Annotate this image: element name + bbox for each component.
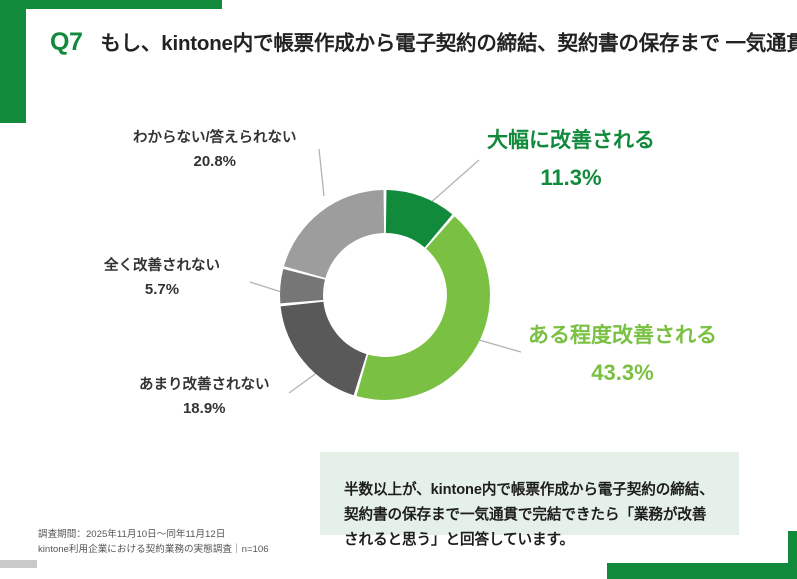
- slice-label-no-improvement-name: 全く改善されない: [104, 256, 220, 277]
- slide-root: Q7 もし、kintone内で帳票作成から電子契約の締結、契約書の保存まで 一気…: [0, 0, 797, 579]
- slice-label-little-improvement-value: 18.9%: [139, 398, 270, 420]
- accent-bar-right-edge: [788, 531, 797, 579]
- accent-bar-bottom-left: [0, 560, 37, 568]
- donut-slice: [284, 190, 384, 278]
- slice-label-some-improvement-name: ある程度改善される: [528, 321, 717, 351]
- donut-chart: [265, 175, 505, 415]
- donut-slice: [281, 302, 367, 396]
- slice-label-no-improvement: 全く改善されない 5.7%: [104, 256, 220, 301]
- accent-bar-left: [0, 0, 26, 123]
- slice-label-major-improvement: 大幅に改善される 11.3%: [487, 126, 655, 194]
- slice-label-little-improvement: あまり改善されない 18.9%: [139, 375, 270, 420]
- donut-chart-svg: [265, 175, 505, 415]
- slice-label-major-improvement-value: 11.3%: [487, 162, 655, 194]
- slice-label-unknown-name: わからない/答えられない: [133, 128, 297, 149]
- accent-bar-bottom-right: [607, 563, 797, 579]
- donut-slice-group: [280, 190, 490, 400]
- summary-callout-text: 半数以上が、kintone内で帳票作成から電子契約の締結、 契約書の保存まで一気…: [344, 478, 744, 553]
- slice-label-no-improvement-value: 5.7%: [104, 279, 220, 301]
- question-header: Q7 もし、kintone内で帳票作成から電子契約の締結、契約書の保存まで 一気…: [50, 28, 797, 59]
- survey-footnote: 調査期間：2025年11月10日〜同年11月12日 kintone利用企業におけ…: [38, 528, 269, 558]
- slice-label-unknown: わからない/答えられない 20.8%: [133, 128, 297, 173]
- slice-label-little-improvement-name: あまり改善されない: [139, 375, 270, 396]
- page-title: もし、kintone内で帳票作成から電子契約の締結、契約書の保存まで 一気通貫で…: [100, 28, 797, 59]
- slice-label-unknown-value: 20.8%: [133, 151, 297, 173]
- question-number: Q7: [50, 28, 82, 57]
- slice-label-some-improvement: ある程度改善される 43.3%: [528, 321, 717, 389]
- slice-label-some-improvement-value: 43.3%: [528, 357, 717, 389]
- slice-label-major-improvement-name: 大幅に改善される: [487, 126, 655, 156]
- accent-bar-top: [0, 0, 222, 9]
